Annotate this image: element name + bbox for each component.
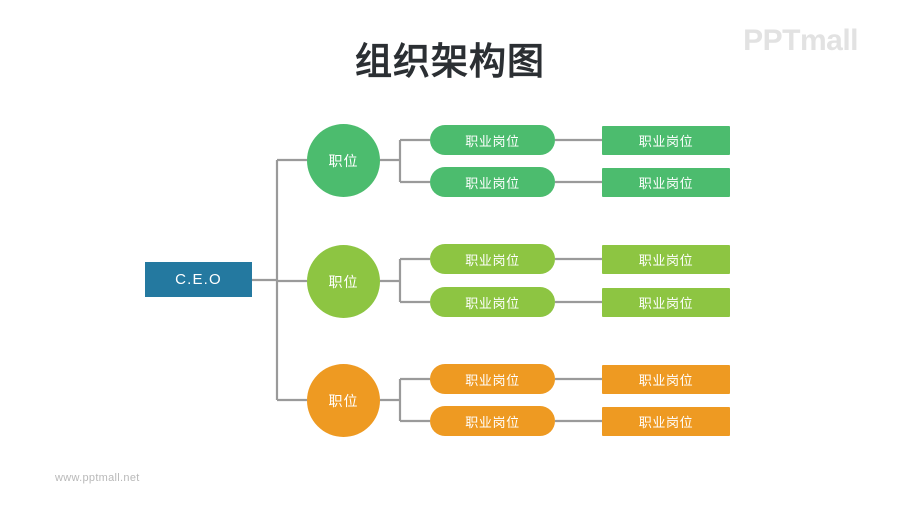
footer-url: www.pptmall.net bbox=[55, 472, 140, 484]
node-job-3-3[interactable]: 职业岗位 bbox=[602, 365, 730, 394]
node-job-1-1-label: 职业岗位 bbox=[465, 131, 519, 150]
node-job-1-2-label: 职业岗位 bbox=[465, 173, 519, 192]
node-job-1-2[interactable]: 职业岗位 bbox=[430, 167, 555, 197]
node-position-1[interactable]: 职位 bbox=[307, 124, 380, 197]
node-job-2-2-label: 职业岗位 bbox=[465, 293, 519, 312]
node-job-2-1-label: 职业岗位 bbox=[465, 250, 519, 269]
node-job-3-4-label: 职业岗位 bbox=[639, 412, 693, 431]
node-job-2-3-label: 职业岗位 bbox=[639, 250, 693, 269]
node-job-1-3[interactable]: 职业岗位 bbox=[602, 126, 730, 155]
node-job-3-2[interactable]: 职业岗位 bbox=[430, 406, 555, 436]
node-job-3-4[interactable]: 职业岗位 bbox=[602, 407, 730, 436]
node-job-1-1[interactable]: 职业岗位 bbox=[430, 125, 555, 155]
node-job-2-1[interactable]: 职业岗位 bbox=[430, 244, 555, 274]
node-ceo[interactable]: C.E.O bbox=[145, 262, 252, 297]
node-job-2-4-label: 职业岗位 bbox=[639, 293, 693, 312]
node-job-3-3-label: 职业岗位 bbox=[639, 370, 693, 389]
node-job-2-3[interactable]: 职业岗位 bbox=[602, 245, 730, 274]
node-job-1-3-label: 职业岗位 bbox=[639, 131, 693, 150]
node-job-2-4[interactable]: 职业岗位 bbox=[602, 288, 730, 317]
node-job-3-1-label: 职业岗位 bbox=[465, 370, 519, 389]
node-position-1-label: 职位 bbox=[329, 151, 359, 171]
node-job-1-4[interactable]: 职业岗位 bbox=[602, 168, 730, 197]
node-ceo-label: C.E.O bbox=[175, 271, 222, 288]
node-position-3-label: 职位 bbox=[329, 391, 359, 411]
brand-logo: PPTmall bbox=[743, 24, 858, 58]
node-job-1-4-label: 职业岗位 bbox=[639, 173, 693, 192]
node-position-3[interactable]: 职位 bbox=[307, 364, 380, 437]
node-job-3-2-label: 职业岗位 bbox=[465, 412, 519, 431]
node-position-2-label: 职位 bbox=[329, 272, 359, 292]
node-position-2[interactable]: 职位 bbox=[307, 245, 380, 318]
slide-canvas: 组织架构图 PPTmall bbox=[0, 0, 900, 506]
node-job-3-1[interactable]: 职业岗位 bbox=[430, 364, 555, 394]
node-job-2-2[interactable]: 职业岗位 bbox=[430, 287, 555, 317]
